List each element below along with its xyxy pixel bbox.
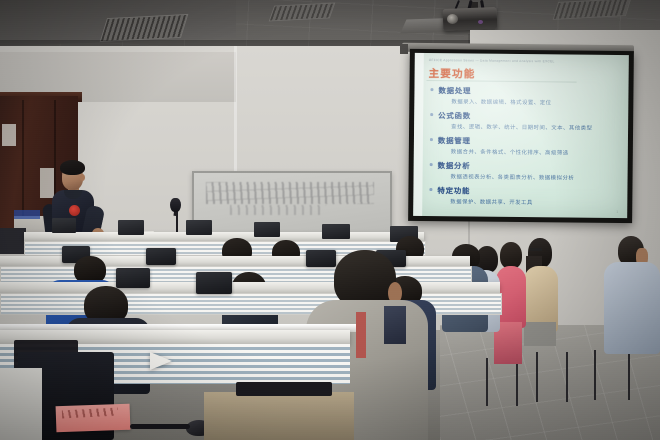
posted-paper	[40, 168, 54, 198]
chair-leg	[628, 348, 630, 400]
lanyard	[356, 312, 366, 358]
student-shirt	[604, 262, 660, 354]
projection-screen: OFFICE Application Series — Data Managem…	[413, 53, 629, 218]
glasses-icon	[530, 248, 542, 251]
student-hair	[500, 242, 522, 269]
whiteboard-writing	[206, 182, 374, 204]
blue-folder	[14, 210, 40, 219]
monitor	[322, 224, 350, 239]
desk-row-far	[24, 232, 424, 241]
lecturer-shirt-logo	[69, 205, 80, 216]
projector-lens-icon	[447, 14, 458, 24]
desk-surface-foreground	[204, 392, 354, 440]
monitor	[146, 248, 176, 265]
keyboard	[236, 382, 332, 396]
chair-leg	[566, 352, 568, 402]
posted-note	[2, 124, 16, 146]
lecturer-ear	[80, 174, 85, 181]
projector-hotspot	[413, 53, 629, 218]
foreground-monitor-bezel	[0, 368, 42, 440]
monitor	[186, 220, 212, 235]
student-collar	[384, 306, 406, 344]
paper-pennant	[150, 352, 172, 370]
lecturer-hair	[60, 160, 85, 175]
desktop-tower	[0, 228, 26, 254]
chair-leg	[486, 358, 488, 406]
student-lap	[524, 322, 556, 346]
microphone-icon	[170, 198, 181, 212]
chair-leg	[594, 350, 596, 400]
monitor	[52, 218, 76, 233]
whiteboard-writing	[230, 205, 326, 215]
screen-housing-cap	[400, 44, 408, 54]
ceiling-vent-left-icon	[100, 14, 189, 42]
monitor	[196, 272, 232, 294]
chair-leg	[536, 352, 538, 402]
monitor	[118, 220, 144, 235]
projector-led-icon	[478, 20, 483, 24]
classroom-photo: OFFICE Application Series — Data Managem…	[0, 0, 660, 440]
monitor	[116, 268, 150, 288]
monitor	[254, 222, 280, 237]
chair-leg	[516, 358, 518, 406]
cable	[130, 424, 190, 429]
monitor	[306, 250, 336, 267]
desk-row-front	[0, 282, 500, 293]
